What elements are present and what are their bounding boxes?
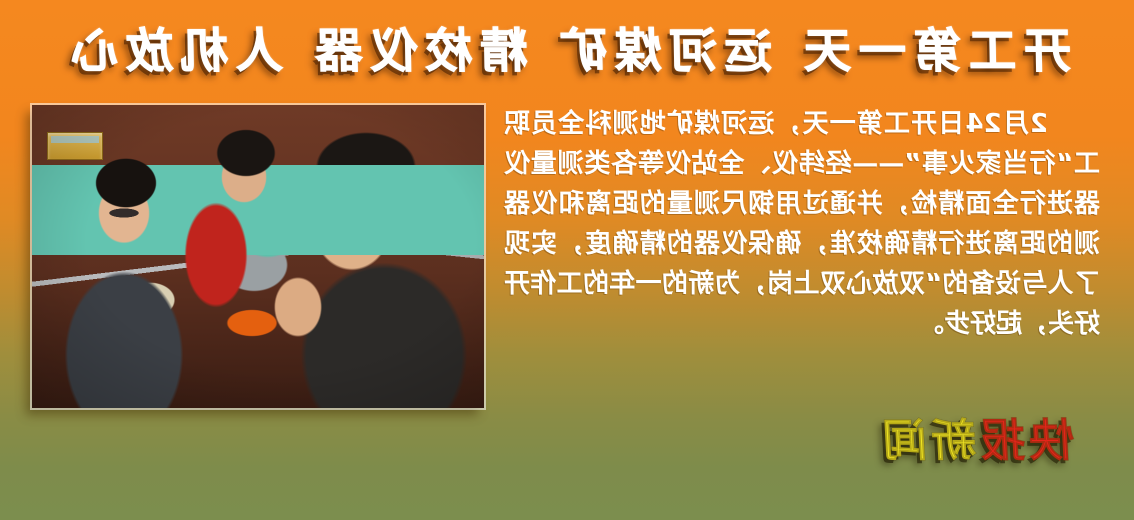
page-title: 开工第一天 运河煤矿 精校仪器 人机放心: [0, 12, 1134, 81]
poster-canvas: 开工第一天 运河煤矿 精校仪器 人机放心 2月24日开工第一天，运河煤矿地测科全…: [0, 0, 1134, 520]
news-flash-badge: 快报新闻: [876, 404, 1075, 469]
badge-text-red: 快报: [974, 404, 1075, 469]
article-body: 2月24日开工第一天，运河煤矿地测科全员职工“行当家火事”——经纬仪、全站仪等各…: [504, 104, 1100, 344]
article-paragraph: 2月24日开工第一天，运河煤矿地测科全员职工“行当家火事”——经纬仪、全站仪等各…: [504, 104, 1100, 344]
mirrored-content-layer: 开工第一天 运河煤矿 精校仪器 人机放心 2月24日开工第一天，运河煤矿地测科全…: [0, 0, 1134, 520]
news-photo: [32, 105, 484, 408]
badge-text-yellow: 新闻: [876, 404, 977, 469]
photo-vignette: [32, 105, 484, 408]
